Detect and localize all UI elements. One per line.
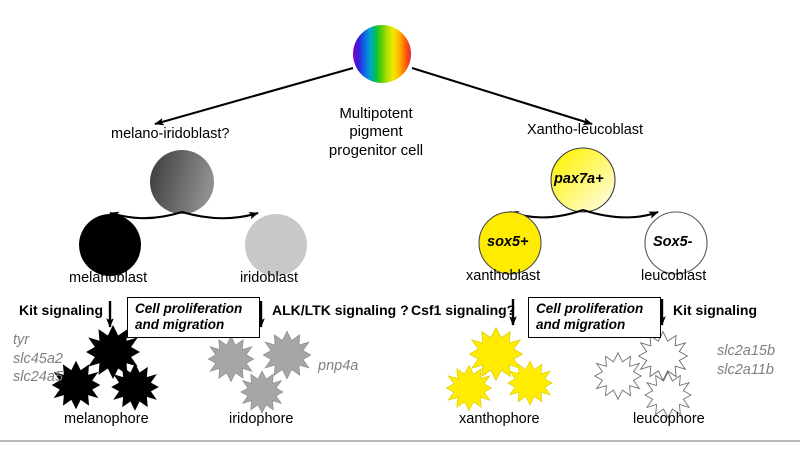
xanthophore-star bbox=[508, 361, 552, 405]
xantho-leucoblast-label: Xantho-leucoblast bbox=[527, 122, 643, 138]
melano-iridoblast-circle bbox=[150, 150, 214, 214]
iridophore-cells bbox=[208, 331, 310, 413]
sox5-positive-marker-label: sox5+ bbox=[487, 234, 529, 250]
iridophore-label: iridophore bbox=[229, 411, 294, 427]
kit-signaling-leucophore-label: Kit signaling bbox=[673, 303, 757, 319]
multipotent-progenitor-circle bbox=[353, 25, 411, 83]
cell-proliferation-migration-box-right: Cell proliferation and migration bbox=[528, 297, 661, 338]
melanoblast-label: melanoblast bbox=[69, 270, 147, 286]
csf1-signaling-label: Csf1 signaling? bbox=[411, 303, 515, 319]
leucophore-star bbox=[639, 332, 688, 381]
iridoblast-label: iridoblast bbox=[240, 270, 298, 286]
arrow-xantholeucoblast-to-leucoblast bbox=[583, 210, 658, 217]
iridoblast-circle bbox=[245, 214, 307, 276]
page-title: Multipotent pigment progenitor cell bbox=[276, 105, 476, 160]
alk-ltk-signaling-label: ALK/LTK signaling ? bbox=[272, 303, 409, 319]
melanophore-gene-list: tyr slc45a2 slc24a5 bbox=[13, 331, 63, 387]
iridophore-gene-list: pnp4a bbox=[318, 357, 358, 376]
leucophore-label: leucophore bbox=[633, 411, 705, 427]
pigment-cell-lineage-diagram: Multipotent pigment progenitor cell mela… bbox=[0, 0, 800, 450]
kit-signaling-melanophore-label: Kit signaling bbox=[19, 303, 103, 319]
pax7a-marker-label: pax7a+ bbox=[554, 171, 604, 187]
cell-proliferation-migration-box-left: Cell proliferation and migration bbox=[127, 297, 260, 338]
iridophore-star bbox=[263, 331, 311, 379]
leucophore-star bbox=[595, 353, 641, 399]
diagram-graphics-layer bbox=[0, 0, 800, 450]
leucoblast-label: leucoblast bbox=[641, 268, 706, 284]
melanophore-label: melanophore bbox=[64, 411, 149, 427]
iridophore-star bbox=[241, 371, 283, 413]
iridophore-star bbox=[208, 336, 253, 381]
sox5-negative-marker-label: Sox5- bbox=[653, 234, 693, 250]
melanophore-star bbox=[111, 363, 159, 411]
xanthophore-label: xanthophore bbox=[459, 411, 540, 427]
leucophore-gene-list: slc2a15b slc2a11b bbox=[717, 342, 775, 379]
melanophore-cells bbox=[52, 325, 159, 411]
melanoblast-circle bbox=[79, 214, 141, 276]
arrow-melanoiridoblast-to-iridoblast bbox=[182, 212, 258, 218]
xanthophore-cells bbox=[446, 328, 552, 411]
melano-iridoblast-label: melano-iridoblast? bbox=[111, 126, 229, 142]
leucophore-cells bbox=[595, 332, 691, 418]
xanthoblast-label: xanthoblast bbox=[466, 268, 540, 284]
